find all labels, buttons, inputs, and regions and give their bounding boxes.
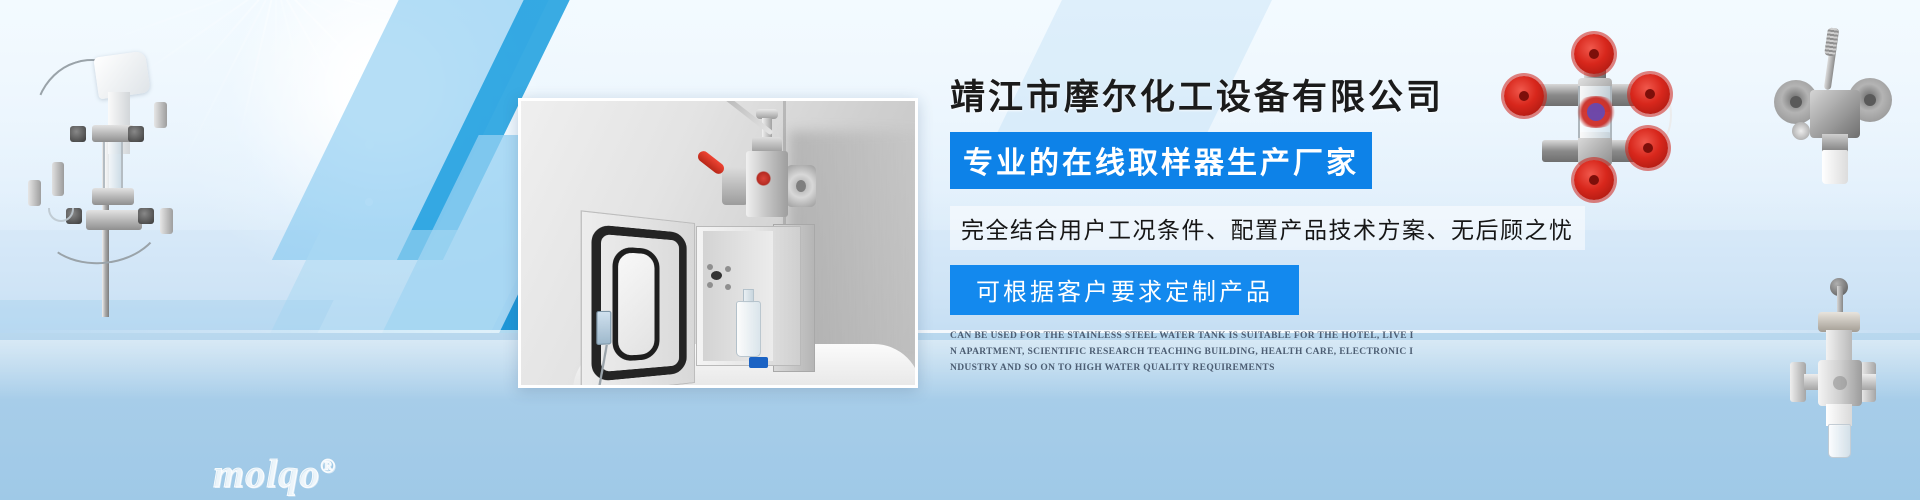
headline-tagline: 专业的在线取样器生产厂家 [950, 132, 1372, 189]
registered-trademark-icon: ® [320, 456, 336, 478]
valve-sample-cup [1828, 424, 1851, 458]
cabinet-bolt-holes [707, 264, 733, 290]
valve-handwheel [1574, 34, 1614, 74]
valve-hub [86, 210, 142, 230]
watermark-text: molqo [213, 451, 320, 496]
english-description: CAN BE USED FOR THE STAINLESS STEEL WATE… [950, 329, 1420, 376]
flange [28, 180, 41, 206]
sampling-valve-head [704, 109, 824, 231]
cabinet-latch [596, 311, 611, 345]
marketing-copy: 靖江市摩尔化工设备有限公司 专业的在线取样器生产厂家 完全结合用户工况条件、配置… [950, 78, 1830, 376]
sample-bottle [736, 301, 761, 357]
promotional-banner: 靖江市摩尔化工设备有限公司 专业的在线取样器生产厂家 完全结合用户工况条件、配置… [0, 0, 1920, 500]
regulator [52, 162, 64, 196]
valve-brand-seal-icon [1833, 376, 1847, 390]
flange [154, 102, 167, 128]
company-name: 靖江市摩尔化工设备有限公司 [950, 78, 1830, 118]
valve-hub [92, 188, 134, 205]
sight-glass [103, 142, 123, 194]
valve-flange-right [786, 165, 816, 207]
valve-flange-left [722, 167, 748, 205]
cabinet-door [581, 210, 695, 388]
valve-knob [138, 208, 154, 224]
subtitle-tagline: 完全结合用户工况条件、配置产品技术方案、无后顾之忧 [950, 206, 1585, 250]
valve-brand-seal-icon [756, 171, 771, 186]
lens-flare-dot [365, 198, 373, 206]
valve-sleeve [1826, 404, 1852, 426]
watermark-logo: molqo® [213, 450, 336, 497]
cabinet-door-window [613, 246, 660, 362]
customization-tagline: 可根据客户要求定制产品 [950, 265, 1299, 315]
valve-knob [70, 126, 86, 142]
valve-knob [128, 126, 144, 142]
valve-handle-knurling [1824, 27, 1839, 56]
product-sampler-assembly [8, 22, 198, 312]
lens-flare-dot [365, 140, 374, 149]
flange [160, 208, 173, 234]
product-photo [518, 98, 918, 388]
sample-bottle-cap [749, 357, 768, 368]
